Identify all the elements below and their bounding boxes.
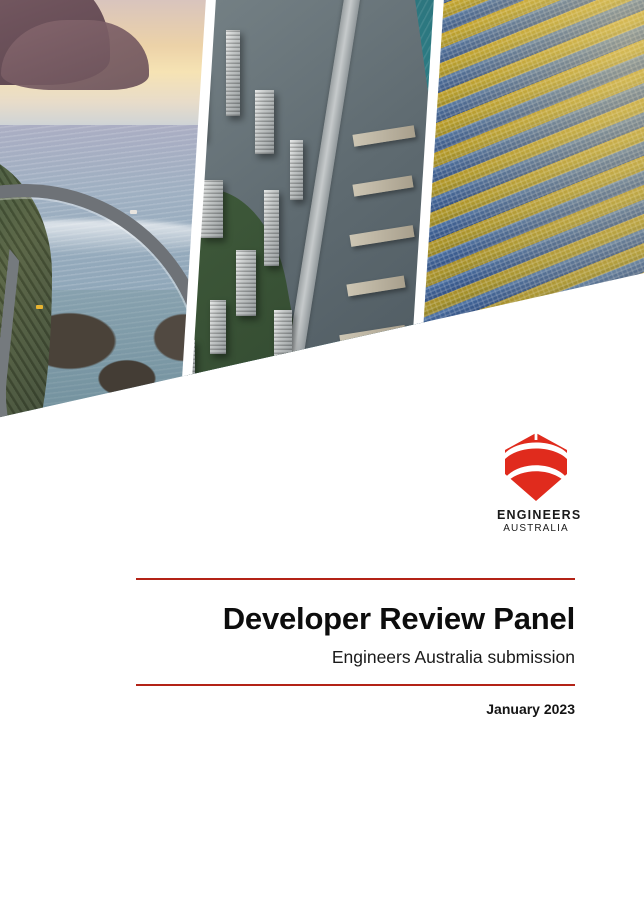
solar-farm-photo [408, 0, 644, 430]
logo-organisation-text: ENGINEERS [497, 508, 575, 522]
page-title: Developer Review Panel [136, 602, 575, 637]
engineers-australia-hexagon-mark [505, 433, 567, 501]
cover-page: ENGINEERS AUSTRALIA Developer Review Pan… [0, 0, 644, 909]
title-rule-bottom [136, 684, 575, 686]
page-subtitle: Engineers Australia submission [136, 647, 575, 668]
title-rule-top [136, 578, 575, 580]
coast-car-white [130, 210, 137, 214]
aerial-city-photo [180, 0, 449, 430]
solar-sun-glow [408, 0, 644, 430]
city-towers [180, 0, 449, 430]
logo-region-text: AUSTRALIA [497, 522, 575, 535]
engineers-australia-logo: ENGINEERS AUSTRALIA [497, 433, 575, 535]
hero-photo-band [0, 0, 644, 430]
publication-date: January 2023 [136, 701, 575, 717]
coast-car-yellow [36, 305, 43, 309]
title-block: Developer Review Panel Engineers Austral… [136, 578, 575, 717]
